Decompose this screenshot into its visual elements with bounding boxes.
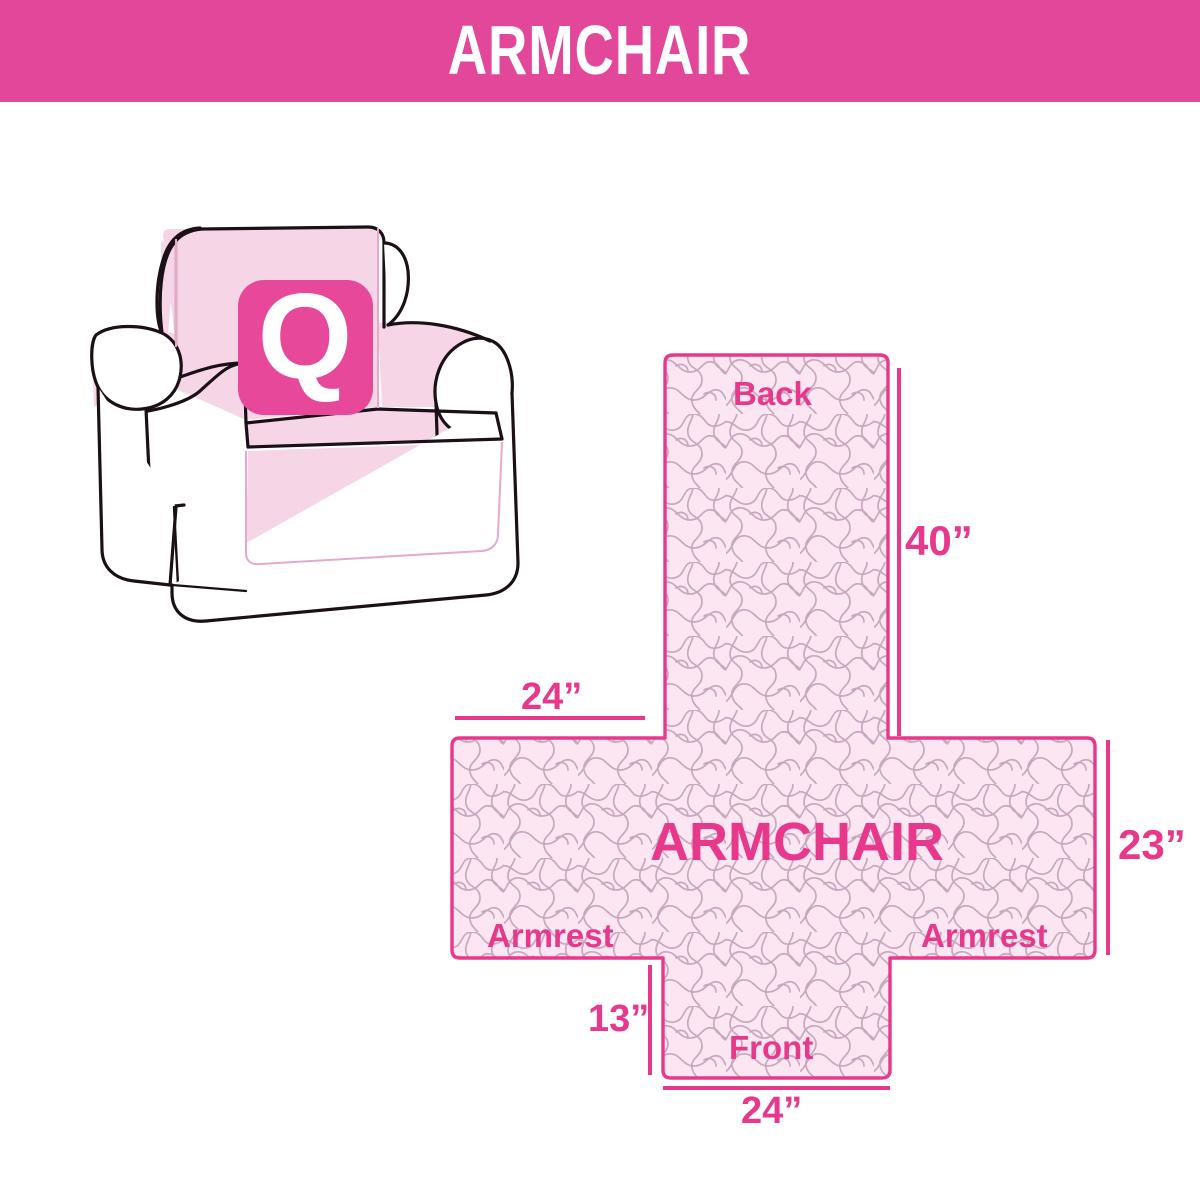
brand-logo-badge: Q	[238, 268, 373, 415]
dimension-label-front-width: 24”	[741, 1092, 802, 1130]
panel-label-center-armchair: ARMCHAIR	[650, 815, 944, 869]
size-chart-page: ARMCHAIR	[0, 0, 1200, 1200]
panel-label-armrest-right: Armrest	[921, 919, 1048, 952]
panel-label-back: Back	[733, 377, 812, 410]
dimension-label-front-height: 13”	[588, 1000, 649, 1038]
dimension-label-back-height: 40”	[905, 520, 973, 562]
page-title: ARMCHAIR	[448, 15, 751, 85]
panel-label-armrest-left: Armrest	[487, 919, 614, 952]
dimension-label-center-height: 23”	[1118, 824, 1186, 866]
panel-label-front: Front	[729, 1031, 813, 1064]
logo-letter-q: Q	[258, 268, 353, 404]
header-banner: ARMCHAIR	[0, 0, 1200, 102]
cross-pattern-diagram	[430, 340, 1200, 1130]
dimension-label-armrest-width: 24”	[521, 678, 582, 716]
